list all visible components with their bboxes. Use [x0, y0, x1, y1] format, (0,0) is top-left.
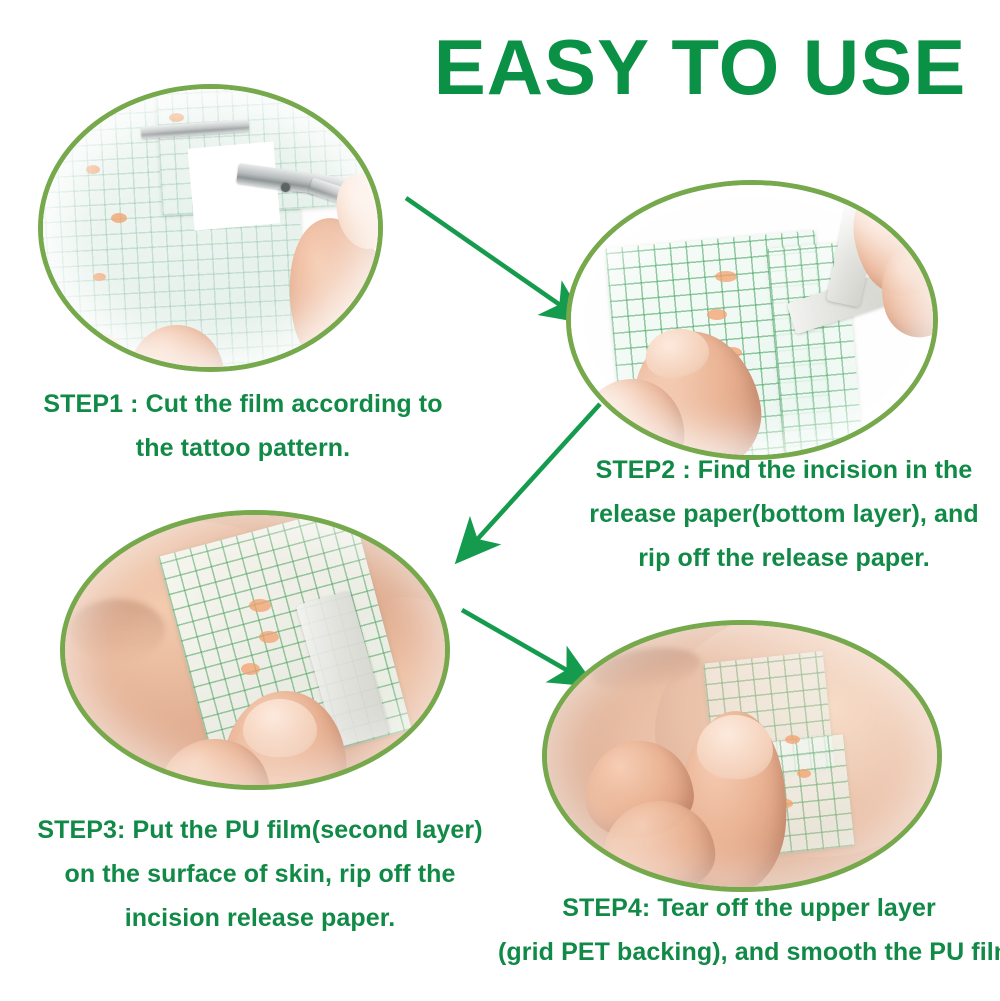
thumbnail — [243, 699, 317, 757]
step2-caption-line-2: release paper(bottom layer), and — [572, 492, 996, 536]
arrow-line — [406, 198, 576, 316]
arrow-line — [464, 404, 600, 554]
step1-caption-line-2: the tattoo pattern. — [28, 426, 458, 470]
step2-caption-line-3: rip off the release paper. — [572, 536, 996, 580]
step2-photo-oval — [566, 180, 938, 460]
step4-photo — [545, 623, 939, 889]
step4-photo-oval — [542, 620, 942, 892]
tattoo-dot — [169, 113, 184, 122]
step1-caption-line-1: STEP1 : Cut the film according to — [28, 382, 458, 426]
step3-caption-line-2: on the surface of skin, rip off the — [30, 852, 490, 896]
page-title: EASY TO USE — [404, 26, 996, 108]
tattoo-dot — [86, 165, 100, 174]
step2-caption-line-1: STEP2 : Find the incision in the — [572, 448, 996, 492]
step4-caption-line-2: (grid PET backing), and smooth the PU fi… — [498, 930, 1000, 974]
tattoo-dot — [715, 271, 737, 282]
step4-caption-line-1: STEP4: Tear off the upper layer — [498, 886, 1000, 930]
tattoo-dot — [785, 735, 800, 744]
tattoo-dot — [111, 213, 127, 223]
infographic-page: EASY TO USE — [0, 0, 1000, 1001]
step3-caption: STEP3: Put the PU film(second layer) on … — [30, 808, 490, 940]
step3-caption-line-1: STEP3: Put the PU film(second layer) — [30, 808, 490, 852]
step3-photo — [63, 513, 447, 787]
tattoo-dot — [259, 631, 279, 643]
step1-photo-oval — [38, 84, 383, 372]
arrow-step2-to-step3 — [440, 398, 610, 578]
tattoo-dot — [797, 769, 811, 778]
step4-caption: STEP4: Tear off the upper layer (grid PE… — [498, 886, 1000, 974]
step2-photo — [569, 183, 935, 457]
step1-photo — [41, 87, 380, 369]
tattoo-dot — [707, 309, 727, 320]
step2-caption: STEP2 : Find the incision in the release… — [572, 448, 996, 580]
tattoo-dot — [241, 663, 260, 675]
tattoo-dot — [93, 273, 106, 281]
knuckle-fold — [69, 599, 165, 661]
tattoo-dot — [249, 599, 271, 612]
step3-photo-oval — [60, 510, 450, 790]
step1-caption: STEP1 : Cut the film according to the ta… — [28, 382, 458, 470]
step3-caption-line-3: incision release paper. — [30, 896, 490, 940]
scissor-pivot-screw — [281, 183, 290, 192]
